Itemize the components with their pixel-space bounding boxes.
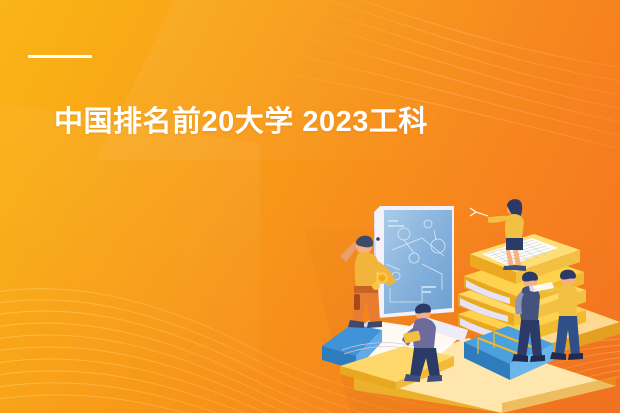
hero-illustration (318, 190, 620, 413)
promo-banner: 中国排名前20大学 2023工科 (0, 0, 620, 413)
title-divider-rule (28, 55, 92, 58)
tablet-device (374, 206, 454, 318)
page-title: 中国排名前20大学 2023工科 (54, 103, 484, 141)
